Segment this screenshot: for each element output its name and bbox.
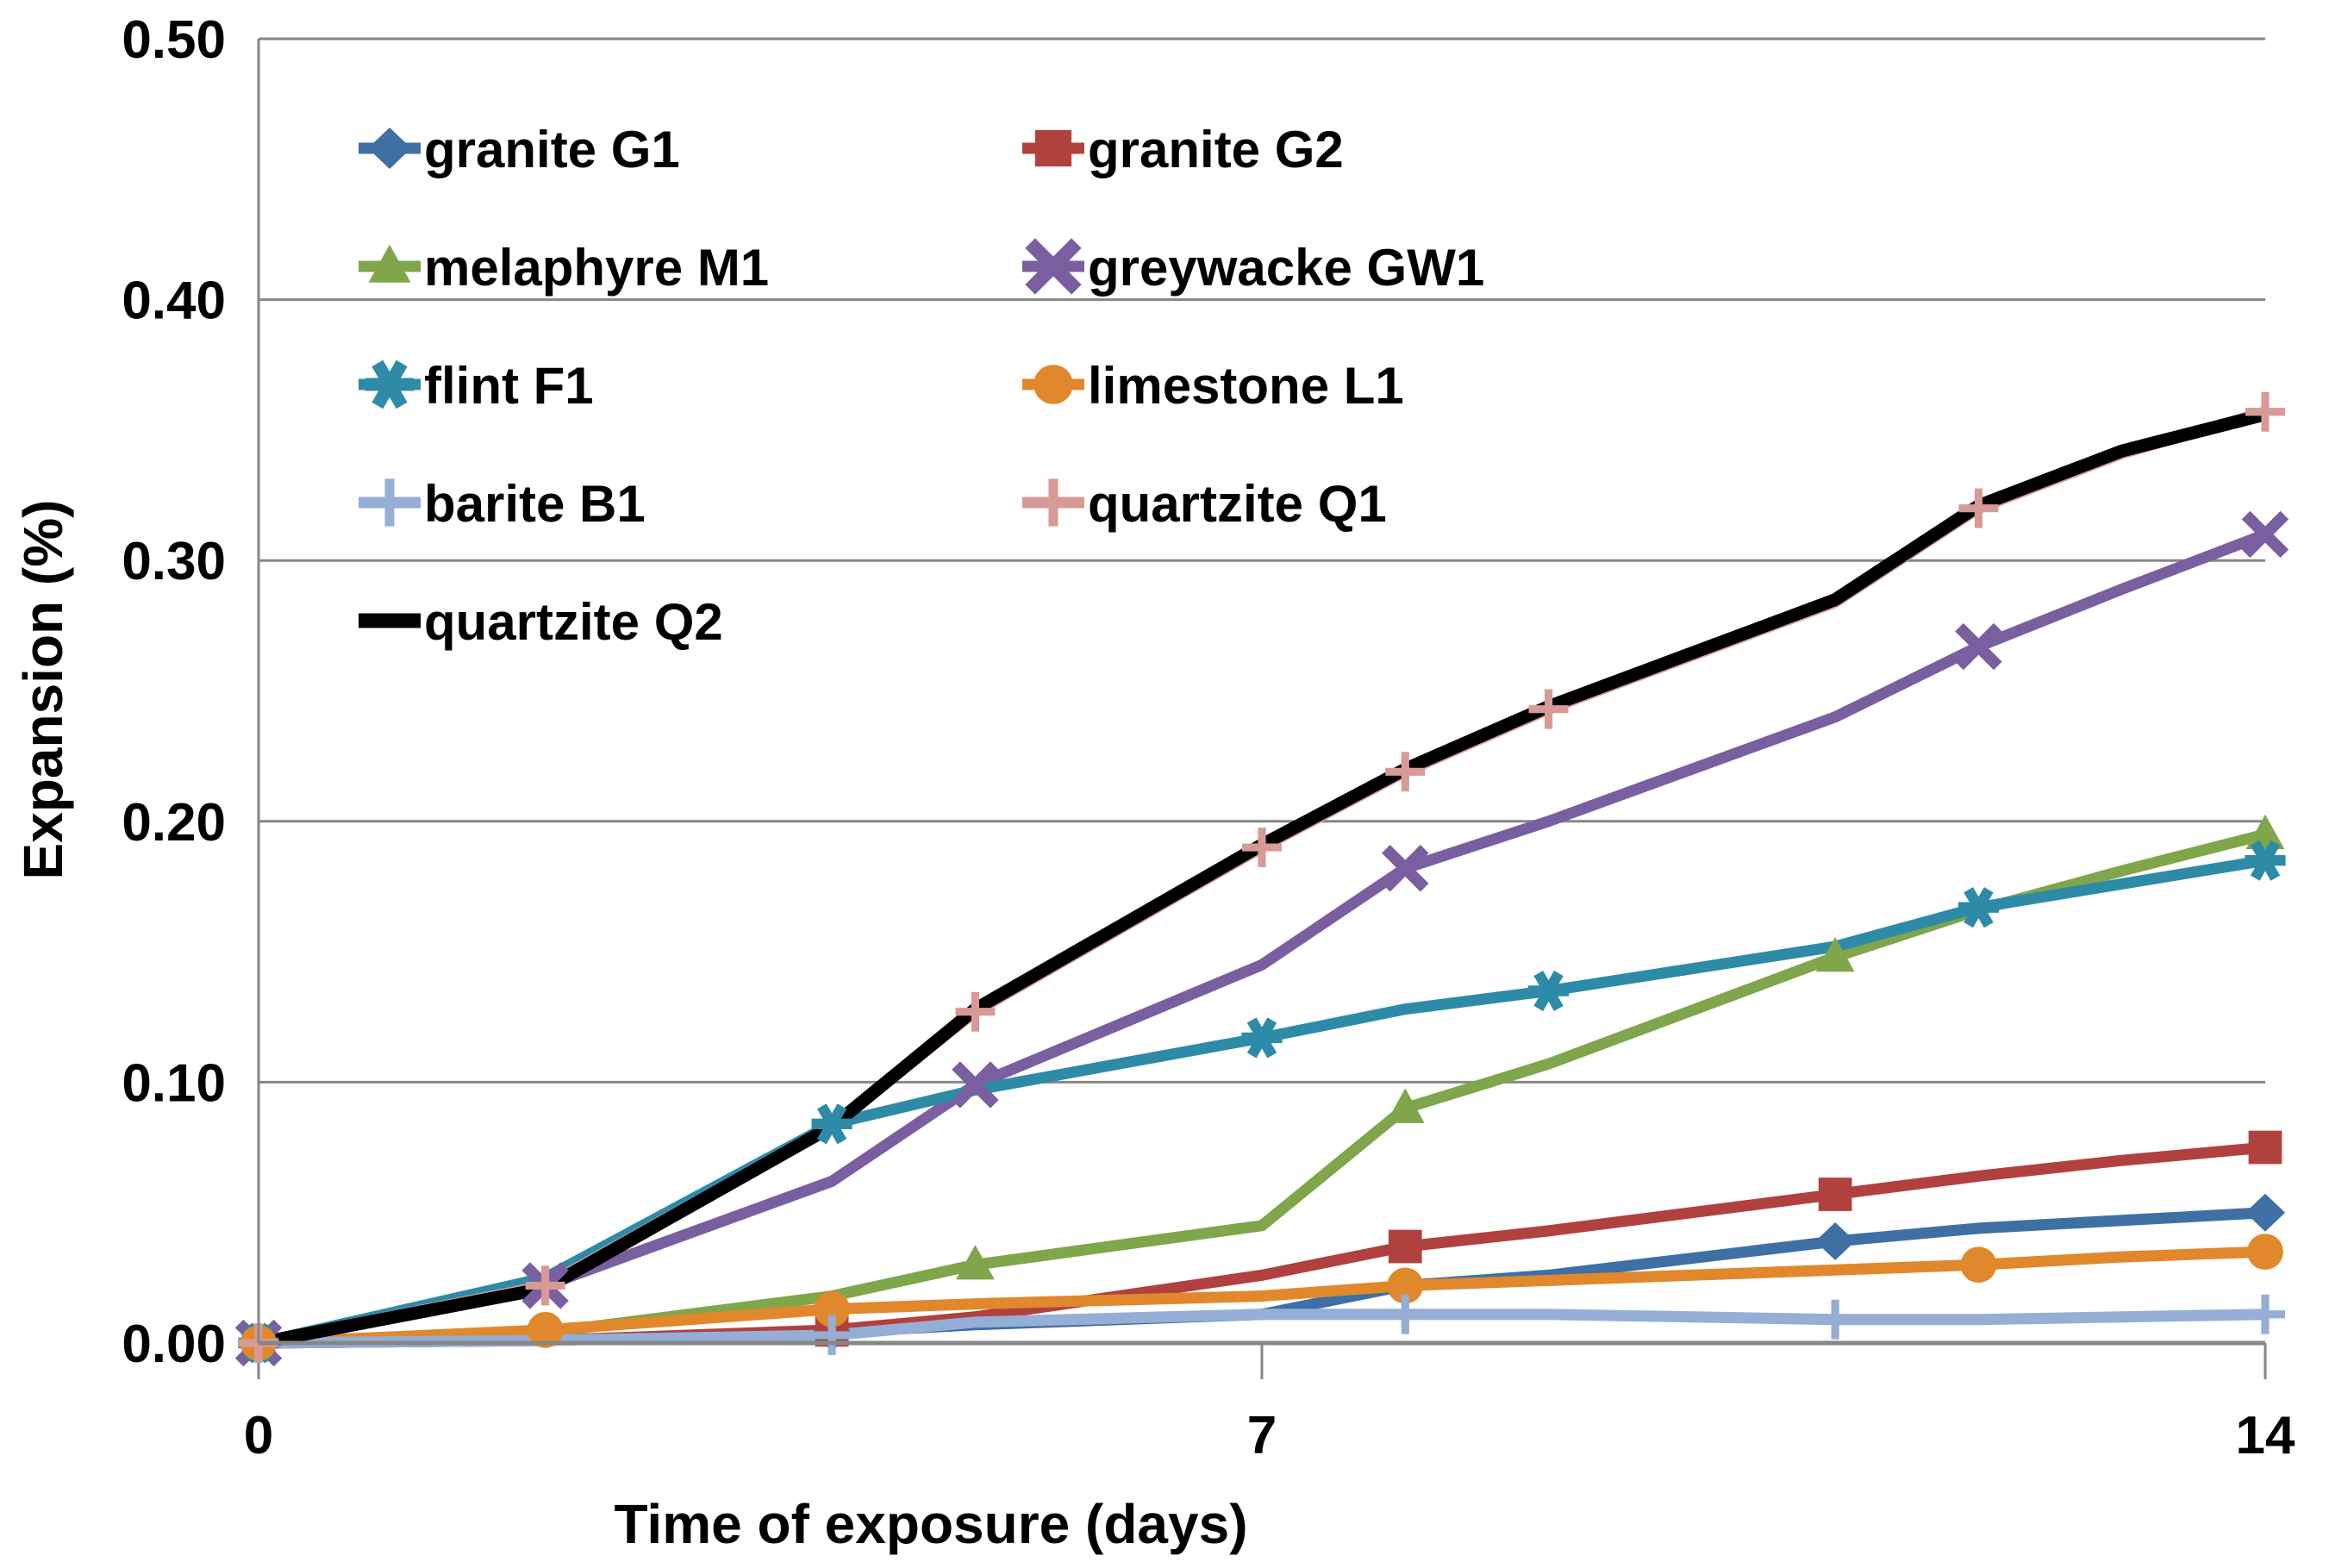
legend-label: granite G1 [424, 121, 680, 178]
legend-label: melaphyre M1 [424, 239, 769, 297]
chart-legend: granite G1granite G2melaphyre M1greywack… [359, 121, 1484, 651]
data-markers-layer [238, 392, 2285, 1363]
data-marker-plus [1815, 1300, 1855, 1340]
legend-item-limestone-l1[interactable]: limestone L1 [1022, 357, 1404, 415]
legend-label: flint F1 [424, 357, 594, 415]
x-axis-tick-labels: 0714 [244, 1343, 2295, 1465]
data-marker-square [1819, 1178, 1852, 1211]
data-marker-square [1389, 1230, 1422, 1264]
legend-item-granite-g1[interactable]: granite G1 [359, 121, 680, 178]
legend-item-barite-b1[interactable]: barite B1 [359, 475, 646, 533]
legend-label: greywacke GW1 [1088, 239, 1484, 297]
data-marker-plus [1029, 478, 1077, 526]
square-icon [2249, 1131, 2282, 1165]
y-axis-tick-labels: 0.000.100.200.300.400.50 [122, 10, 226, 1374]
data-marker-diamond [1815, 1222, 1855, 1260]
legend-label: limestone L1 [1088, 357, 1404, 415]
x-axis-title: Time of exposure (days) [614, 1493, 1247, 1555]
data-marker-diamond [2245, 1194, 2285, 1232]
series-line-quartzite-q1 [259, 412, 2265, 1343]
data-marker-circle [1961, 1246, 1997, 1283]
y-tick-label: 0.20 [122, 793, 226, 853]
data-marker-square [2249, 1131, 2282, 1165]
legend-item-quartzite-q1[interactable]: quartzite Q1 [1022, 475, 1387, 533]
square-icon [1819, 1178, 1852, 1211]
y-tick-label: 0.00 [122, 1315, 226, 1374]
diamond-icon [1815, 1222, 1855, 1260]
circle-icon [1033, 365, 1073, 404]
x-tick-label: 7 [1247, 1406, 1277, 1465]
square-icon [1389, 1230, 1422, 1264]
y-axis-title: Expansion (%) [12, 500, 74, 880]
circle-icon [2247, 1234, 2283, 1270]
data-marker-asterisk [1241, 1021, 1282, 1056]
data-marker-plus [2245, 392, 2285, 432]
diamond-icon [368, 128, 411, 169]
gridlines [259, 39, 2265, 1343]
y-tick-label: 0.10 [122, 1053, 226, 1113]
data-marker-asterisk [365, 363, 415, 405]
legend-item-granite-g2[interactable]: granite G2 [1022, 121, 1344, 178]
square-icon [1035, 130, 1071, 166]
legend-item-greywacke-gw1[interactable]: greywacke GW1 [1022, 239, 1484, 297]
series-line-quartzite-q2 [259, 415, 2265, 1343]
data-marker-plus [2245, 1295, 2285, 1334]
data-marker-square [1035, 130, 1071, 166]
triangle-icon [2246, 815, 2285, 849]
legend-label: quartzite Q1 [1088, 475, 1387, 533]
legend-label: barite B1 [424, 475, 646, 533]
data-marker-asterisk [1528, 973, 1569, 1009]
x-tick-label: 14 [2236, 1406, 2295, 1465]
x-tick-label: 0 [244, 1406, 273, 1465]
data-marker-triangle [2246, 815, 2285, 849]
legend-label: granite G2 [1088, 121, 1344, 178]
y-tick-label: 0.30 [122, 532, 226, 591]
y-tick-label: 0.40 [122, 272, 226, 331]
chart-container: 0.000.100.200.300.400.50 0714 granite G1… [0, 0, 2329, 1568]
data-marker-circle [2247, 1234, 2283, 1270]
axis-lines [259, 39, 2265, 1343]
diamond-icon [2245, 1194, 2285, 1232]
circle-icon [1961, 1246, 1997, 1283]
data-marker-plus [365, 478, 413, 526]
data-marker-diamond [368, 128, 411, 169]
legend-item-melaphyre-m1[interactable]: melaphyre M1 [359, 239, 769, 297]
legend-label: quartzite Q2 [424, 593, 723, 651]
data-series-layer [259, 412, 2265, 1343]
data-marker-plus [1385, 1295, 1425, 1334]
data-marker-circle [1033, 365, 1073, 404]
y-tick-label: 0.50 [122, 10, 226, 70]
legend-item-quartzite-q2[interactable]: quartzite Q2 [359, 593, 723, 651]
line-chart: 0.000.100.200.300.400.50 0714 granite G1… [0, 0, 2329, 1568]
legend-item-flint-f1[interactable]: flint F1 [359, 357, 594, 415]
